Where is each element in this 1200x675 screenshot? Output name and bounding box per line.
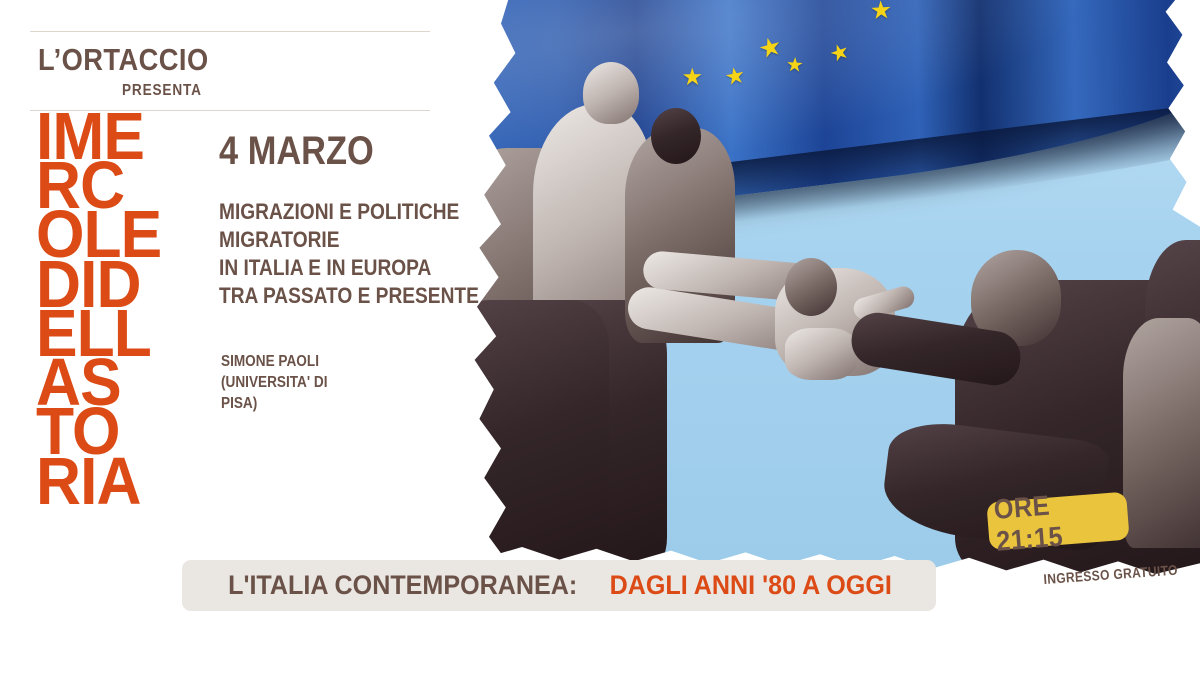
hands-clasp — [785, 328, 857, 380]
series-title-line: RIA — [36, 457, 199, 506]
divider-top — [30, 31, 430, 32]
event-poster: ★ ★ ★ ★ ★ ★ ★ ★ ★ — [0, 0, 1200, 675]
speaker-info: SIMONE PAOLI (UNIVERSITA' DI PISA) — [221, 352, 328, 414]
time-label: ORE 21:15 — [993, 484, 1124, 558]
banner-highlight: DAGLI ANNI '80 A OGGI — [610, 570, 892, 601]
subject-line: TRA PASSATO E PRESENTE — [219, 282, 479, 310]
series-title: IME RC OLE DID ELL AS TO RIA — [36, 112, 199, 506]
presents-label: PRESENTA — [122, 82, 202, 100]
figure-head — [651, 108, 701, 164]
event-date: 4 MARZO — [219, 129, 374, 174]
speaker-line: (UNIVERSITA' DI — [221, 373, 328, 394]
event-subject: MIGRAZIONI E POLITICHE MIGRATORIE IN ITA… — [219, 198, 479, 311]
banner-prefix: L'ITALIA CONTEMPORANEA: — [228, 570, 577, 601]
time-badge: ORE 21:15 — [986, 492, 1129, 551]
figure-silhouette — [1123, 318, 1200, 548]
figure-head — [583, 62, 639, 124]
subject-line: IN ITALIA E IN EUROPA — [219, 254, 479, 282]
cycle-banner: L'ITALIA CONTEMPORANEA: DAGLI ANNI '80 A… — [182, 560, 936, 611]
speaker-line: SIMONE PAOLI — [221, 352, 328, 373]
subject-line: MIGRAZIONI E POLITICHE — [219, 198, 479, 226]
speaker-line: PISA) — [221, 394, 328, 415]
subject-line: MIGRATORIE — [219, 226, 479, 254]
child-head — [785, 258, 837, 316]
organizer-name: L’ORTACCIO — [38, 42, 209, 78]
